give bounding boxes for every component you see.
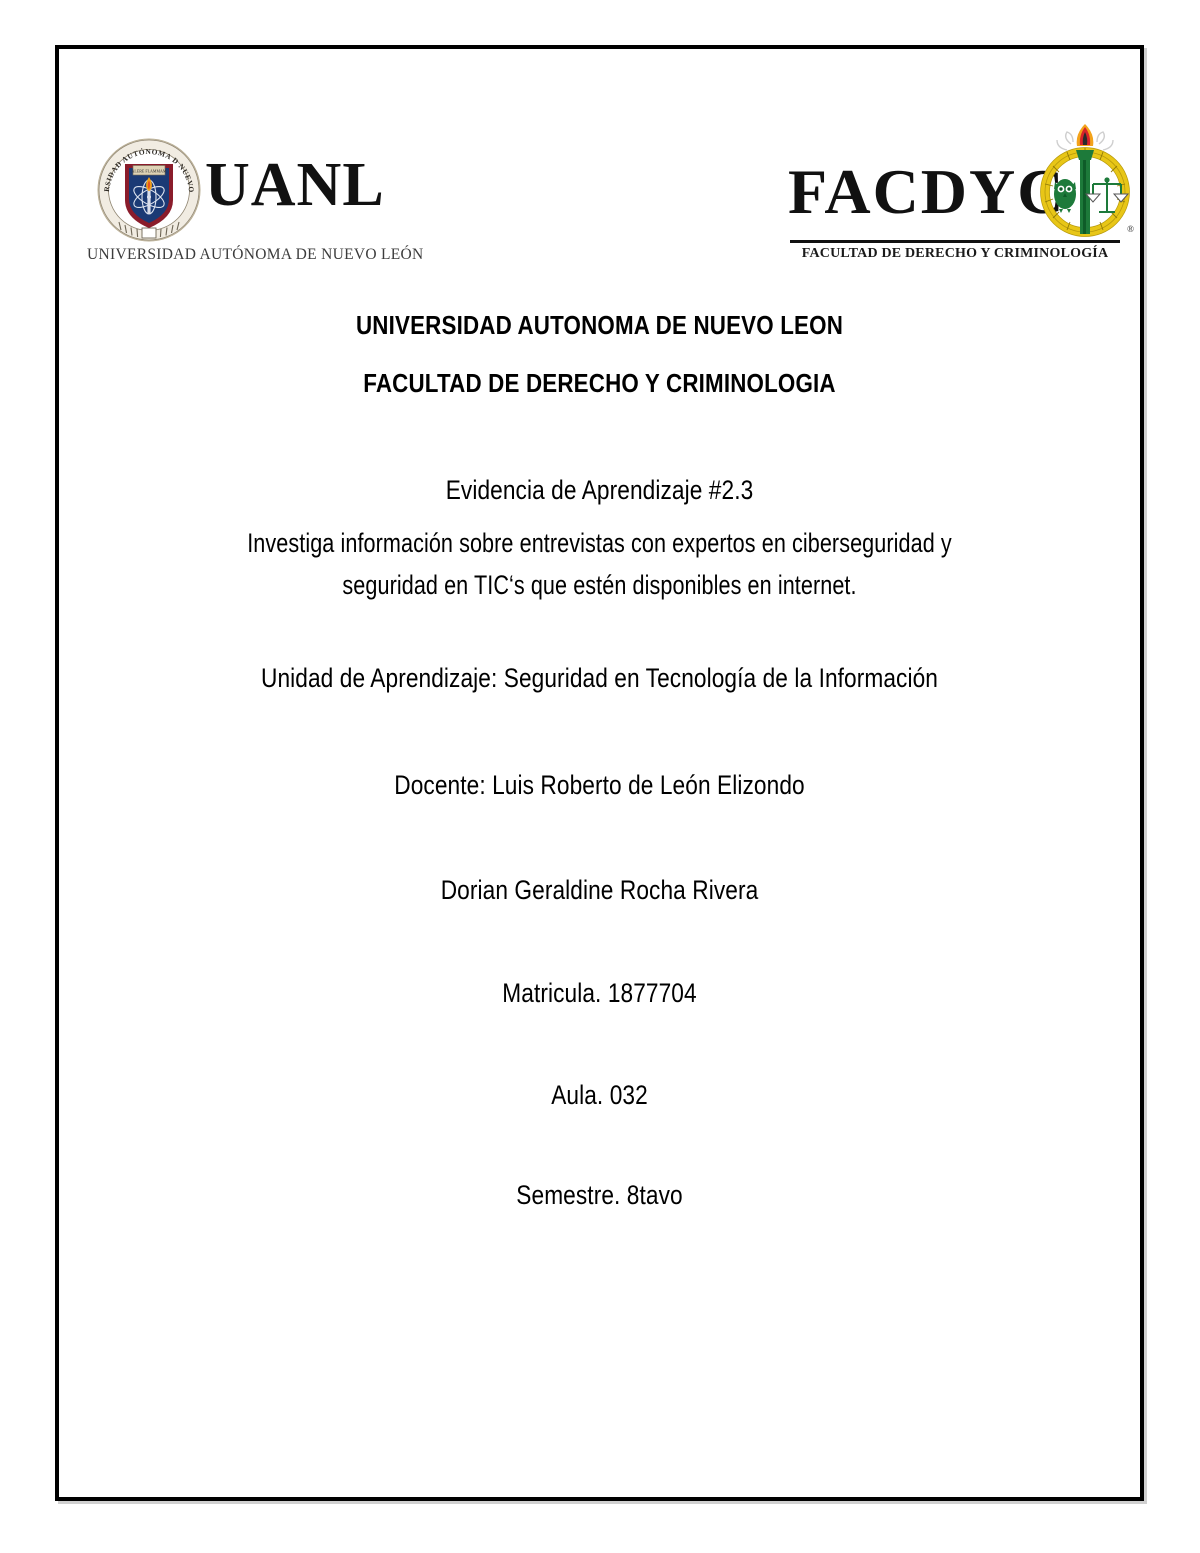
assignment-description-line-2: seguridad en TIC‘s que estén disponibles… [164, 570, 1035, 601]
student-matricula: Matricula. 1877704 [142, 978, 1057, 1009]
cover-page: UNIVERSIDAD AUTÓNOMA D NUEVO LEÓN [0, 0, 1200, 1553]
svg-text:ALERE FLAMMAM: ALERE FLAMMAM [131, 168, 166, 173]
course-unit: Unidad de Aprendizaje: Seguridad en Tecn… [142, 663, 1057, 694]
registered-trademark-mark: ® [1127, 224, 1134, 234]
uanl-wordmark: UANL [205, 154, 385, 216]
university-name: UNIVERSIDAD AUTONOMA DE NUEVO LEON [131, 310, 1068, 341]
facdyc-subtitle: FACULTAD DE DERECHO Y CRIMINOLOGÍA [790, 246, 1120, 262]
semester: Semestre. 8tavo [142, 1180, 1057, 1211]
student-name: Dorian Geraldine Rocha Rivera [142, 875, 1057, 906]
uanl-shield-seal-icon: UNIVERSIDAD AUTÓNOMA D NUEVO LEÓN [97, 138, 201, 242]
instructor-name: Docente: Luis Roberto de León Elizondo [142, 770, 1057, 801]
assignment-title: Evidencia de Aprendizaje #2.3 [142, 475, 1057, 506]
classroom: Aula. 032 [142, 1080, 1057, 1111]
uanl-subtitle: UNIVERSIDAD AUTÓNOMA DE NUEVO LEÓN [87, 246, 417, 264]
facdyc-wordmark: FACDYC [788, 160, 1065, 224]
facdyc-torch-scales-owl-emblem-icon [1033, 124, 1138, 244]
faculty-name: FACULTAD DE DERECHO Y CRIMINOLOGIA [131, 368, 1068, 399]
facdyc-logo: FACDYC FACULTAD DE DERECHO Y CRIMINOLOGÍ… [788, 120, 1138, 275]
header-logo-band: UNIVERSIDAD AUTÓNOMA D NUEVO LEÓN [55, 118, 1144, 278]
assignment-description-line-1: Investiga información sobre entrevistas … [164, 528, 1035, 559]
uanl-logo: UNIVERSIDAD AUTÓNOMA D NUEVO LEÓN [75, 126, 415, 276]
